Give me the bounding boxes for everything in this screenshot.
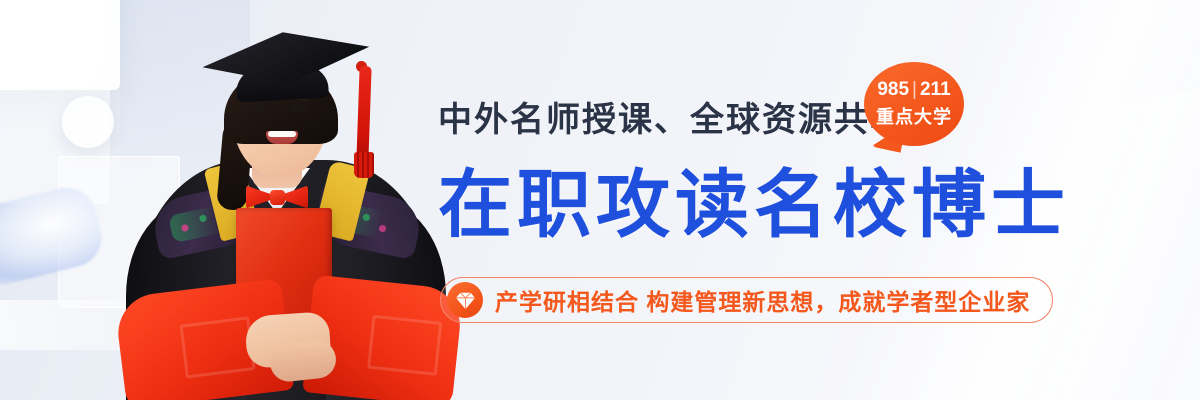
eye-right xyxy=(290,105,306,112)
badge-bubble: 985|211 重点大学 xyxy=(864,62,964,146)
banner-content: 中外名师授课、全球资源共享 985|211 重点大学 在职攻读名校博士 产学研相… xyxy=(436,0,1136,400)
teeth xyxy=(268,131,296,137)
banner-headline: 在职攻读名校博士 xyxy=(438,168,1070,242)
red-tassel xyxy=(356,66,371,162)
bg-circle xyxy=(62,96,114,148)
university-badge: 985|211 重点大学 xyxy=(864,62,964,146)
badge-line-1: 985|211 xyxy=(877,79,950,101)
tagline-pill: 产学研相结合 构建管理新思想，成就学者型企业家 xyxy=(440,277,1053,323)
smiling-mouth xyxy=(266,131,298,144)
graduate-portrait xyxy=(120,0,450,400)
sleeve-pattern-right xyxy=(367,315,442,376)
sleeve-pattern-left xyxy=(179,316,255,378)
badge-211: 211 xyxy=(920,79,951,100)
banner-subtitle: 中外名师授课、全球资源共享 xyxy=(438,92,906,141)
badge-985: 985 xyxy=(877,79,909,100)
eye-left xyxy=(250,105,266,112)
badge-separator: | xyxy=(912,79,917,101)
diamond-icon xyxy=(447,282,483,318)
badge-line-2: 重点大学 xyxy=(876,103,952,129)
promo-banner: 中外名师授课、全球资源共享 985|211 重点大学 在职攻读名校博士 产学研相… xyxy=(0,0,1200,400)
bg-cut-corner-shape xyxy=(0,0,110,90)
tassel-fringe xyxy=(354,152,374,178)
bowtie-knot xyxy=(270,190,285,205)
tagline-text: 产学研相结合 构建管理新思想，成就学者型企业家 xyxy=(495,283,1030,317)
